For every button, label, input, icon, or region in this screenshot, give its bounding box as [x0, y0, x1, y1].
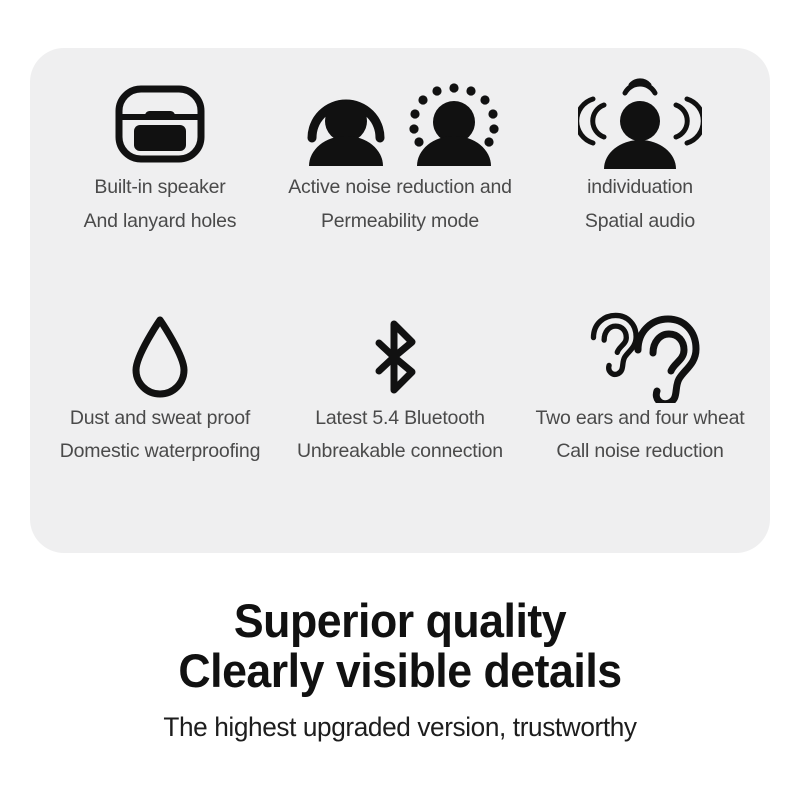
- feature-caption-line1: Active noise reduction and: [288, 178, 512, 198]
- earbud-case-icon: [112, 70, 208, 178]
- bluetooth-icon: [371, 305, 429, 409]
- feature-caption-line2: And lanyard holes: [84, 212, 237, 232]
- two-ears-icon: [580, 305, 700, 409]
- feature-caption: individuation Spatial audio: [585, 178, 695, 231]
- feature-built-in-speaker: Built-in speaker And lanyard holes: [40, 70, 280, 305]
- feature-caption-line1: Dust and sweat proof: [60, 409, 260, 429]
- feature-caption-line1: Two ears and four wheat: [536, 409, 745, 429]
- footer-subtitle: The highest upgraded version, trustworth…: [12, 712, 788, 742]
- product-feature-graphic: Built-in speaker And lanyard holes: [0, 0, 800, 800]
- feature-caption-line1: Built-in speaker: [84, 178, 237, 198]
- spatial-audio-person-icon: [578, 70, 702, 178]
- feature-noise-reduction: Active noise reduction and Permeability …: [280, 70, 520, 305]
- feature-bluetooth: Latest 5.4 Bluetooth Unbreakable connect…: [280, 305, 520, 540]
- feature-caption-line2: Unbreakable connection: [297, 442, 503, 462]
- feature-waterproof: Dust and sweat proof Domestic waterproof…: [40, 305, 280, 540]
- feature-caption: Active noise reduction and Permeability …: [288, 178, 512, 231]
- headline-line2: Clearly visible details: [20, 646, 780, 696]
- feature-caption: Built-in speaker And lanyard holes: [84, 178, 237, 231]
- feature-caption-line2: Domestic waterproofing: [60, 442, 260, 462]
- feature-caption-line2: Spatial audio: [585, 212, 695, 232]
- feature-caption: Dust and sweat proof Domestic waterproof…: [60, 409, 260, 462]
- feature-card: Built-in speaker And lanyard holes: [30, 48, 770, 553]
- feature-caption-line1: Latest 5.4 Bluetooth: [297, 409, 503, 429]
- feature-spatial-audio: individuation Spatial audio: [520, 70, 760, 305]
- feature-caption: Two ears and four wheat Call noise reduc…: [536, 409, 745, 462]
- noise-reduction-persons-icon: [290, 70, 510, 178]
- headline-line1: Superior quality: [20, 596, 780, 646]
- feature-caption-line2: Permeability mode: [288, 212, 512, 232]
- feature-caption: Latest 5.4 Bluetooth Unbreakable connect…: [297, 409, 503, 462]
- feature-caption-line1: individuation: [585, 178, 695, 198]
- feature-two-ears: Two ears and four wheat Call noise reduc…: [520, 305, 760, 540]
- footer-text-block: Superior quality Clearly visible details…: [0, 596, 800, 742]
- feature-caption-line2: Call noise reduction: [536, 442, 745, 462]
- water-droplet-icon: [127, 305, 193, 409]
